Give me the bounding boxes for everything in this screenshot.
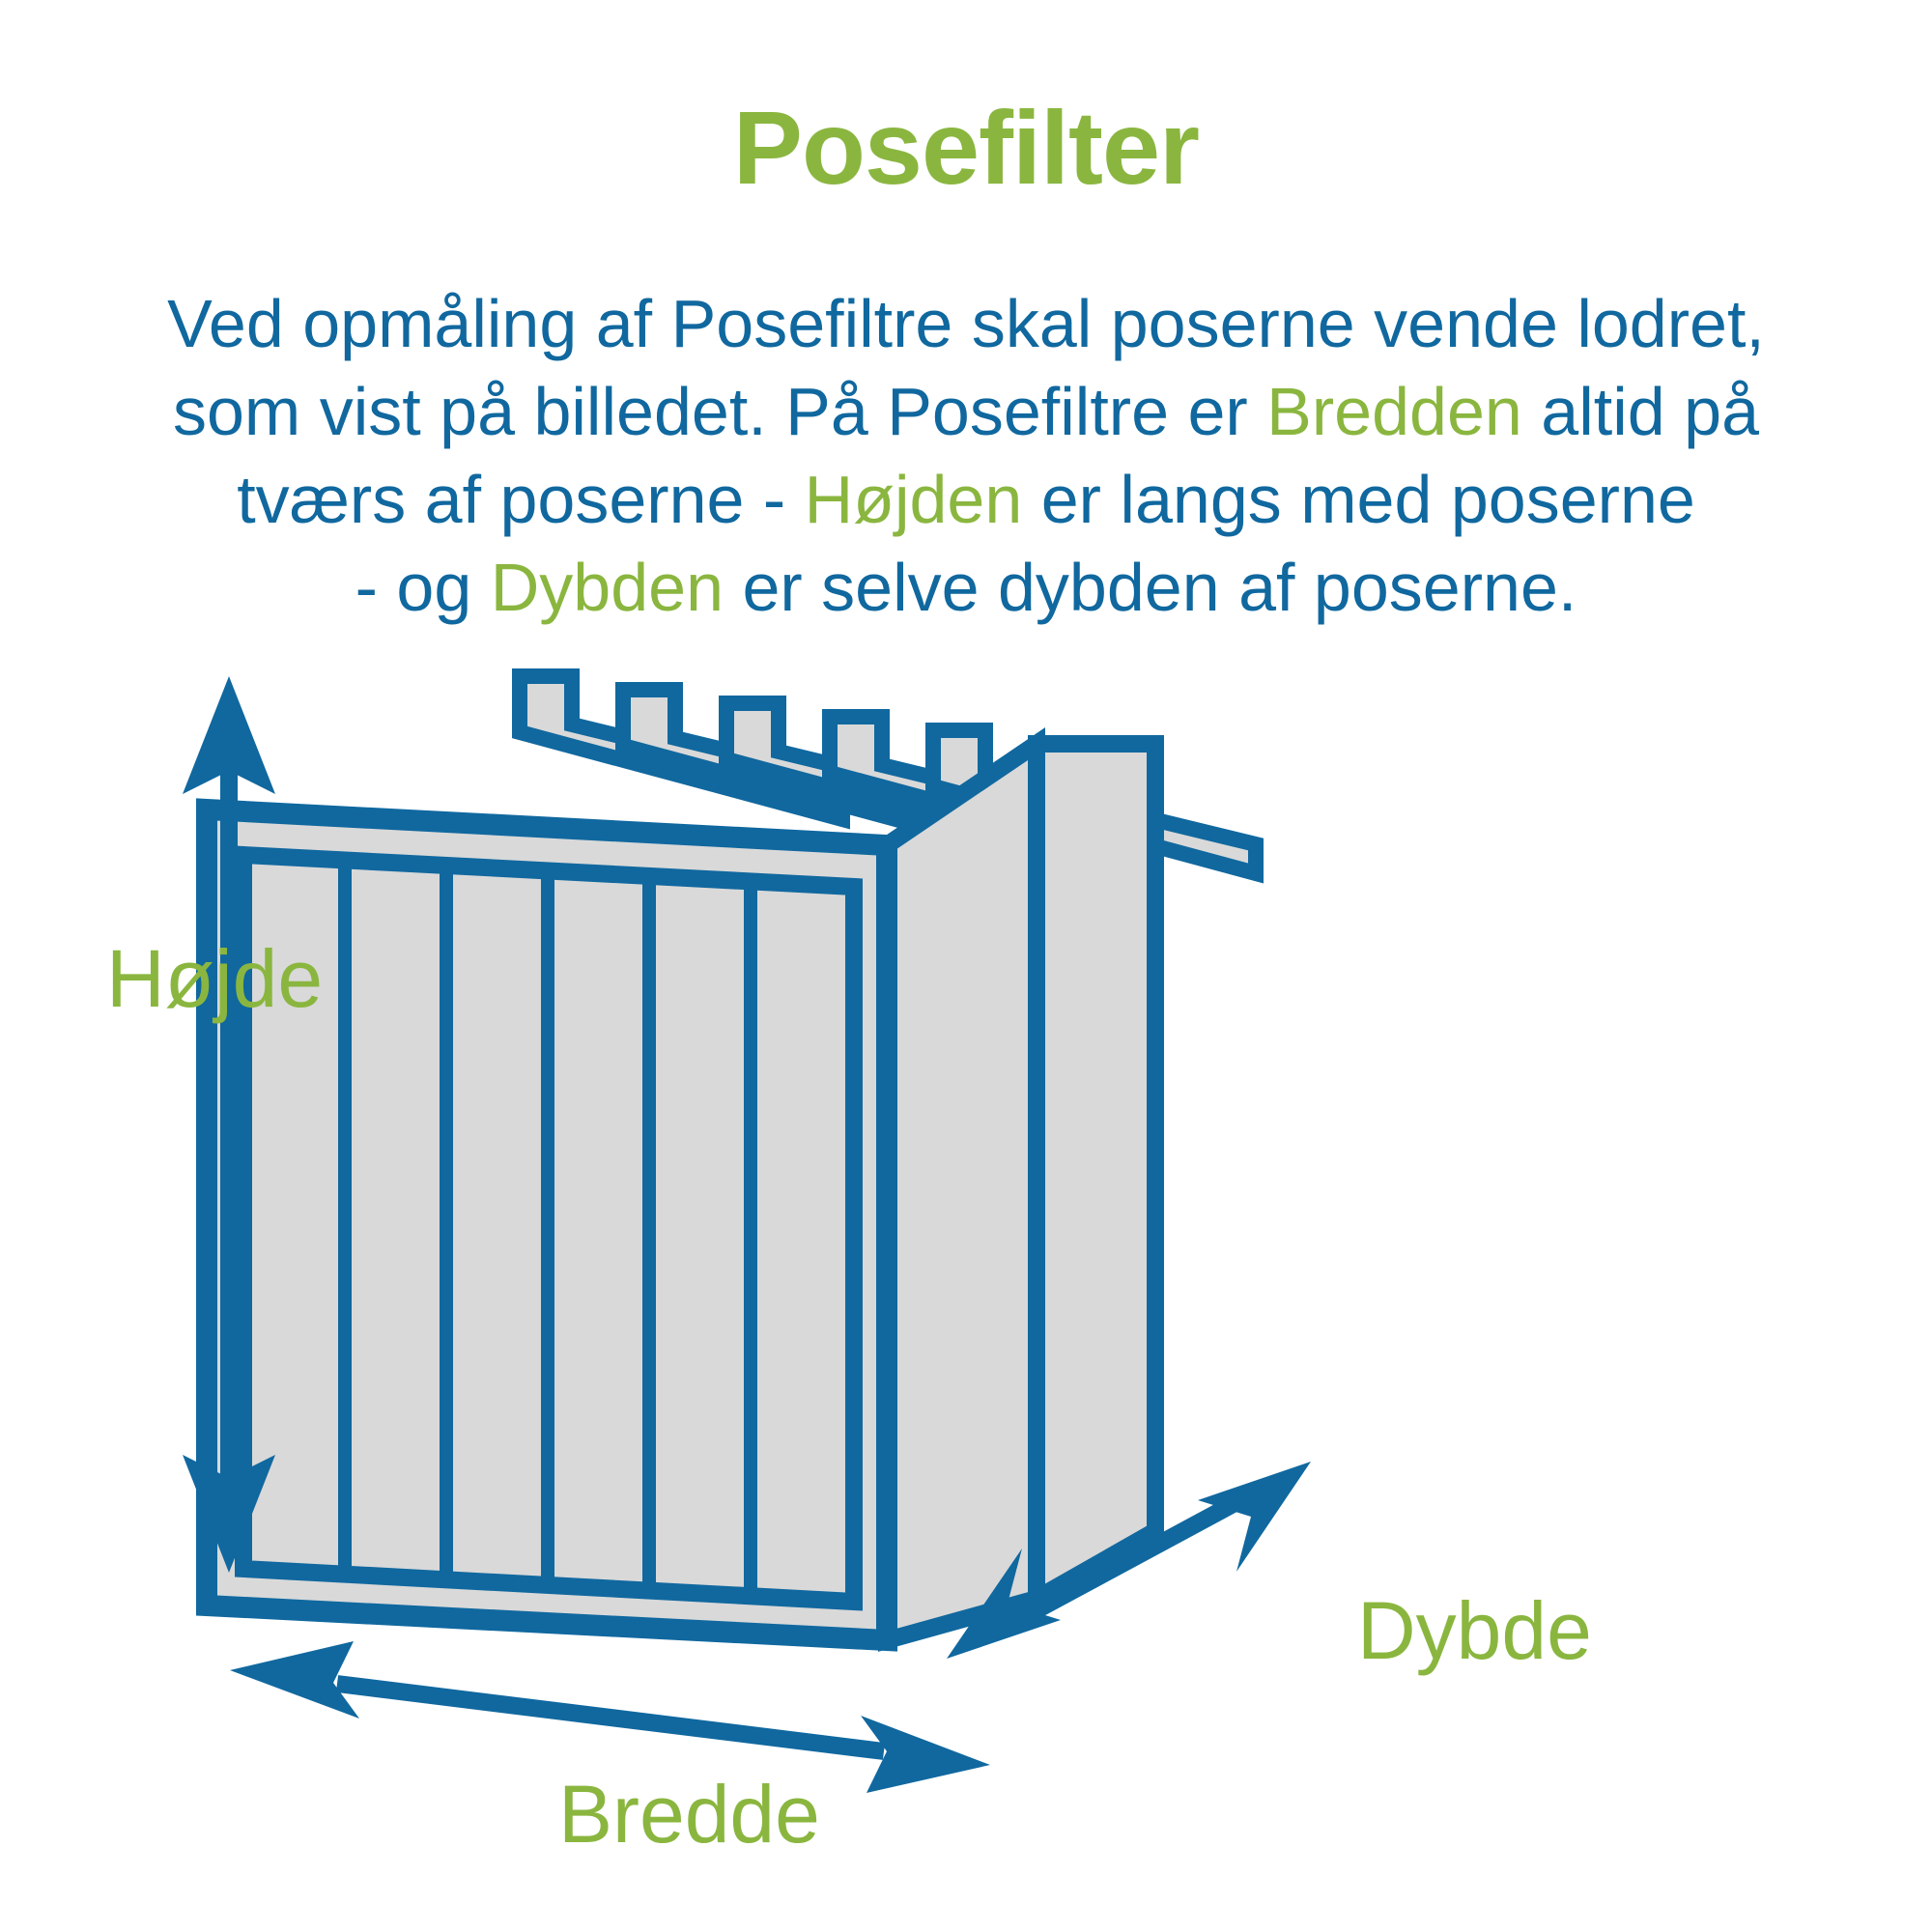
intro-line-3: tværs af poserne - Højden er langs med p… xyxy=(58,456,1874,544)
intro-paragraph: Ved opmåling af Posefiltre skal poserne … xyxy=(58,280,1874,632)
page-title: Posefilter xyxy=(0,93,1932,202)
intro-line-1: Ved opmåling af Posefiltre skal poserne … xyxy=(58,280,1874,368)
poster-root: Posefilter Ved opmåling af Posefiltre sk… xyxy=(0,0,1932,1932)
intro-line-4-part-a: - og xyxy=(355,550,491,625)
label-dybde: Dybde xyxy=(1357,1585,1592,1676)
highlight-bredden: Bredden xyxy=(1266,374,1522,449)
highlight-hojden: Højden xyxy=(805,462,1023,537)
intro-line-2: som vist på billedet. På Posefiltre er B… xyxy=(58,368,1874,456)
filter-diagram: Højde Bredde Dybde xyxy=(0,667,1932,1932)
intro-line-3-part-a: tværs af poserne - xyxy=(237,462,804,537)
intro-line-4: - og Dybden er selve dybden af poserne. xyxy=(58,544,1874,632)
intro-line-4-part-b: er selve dybden af poserne. xyxy=(724,550,1577,625)
intro-line-1-text: Ved opmåling af Posefiltre skal poserne … xyxy=(167,286,1765,361)
label-hojde: Højde xyxy=(106,933,323,1024)
filter-depth-face xyxy=(887,744,1037,1640)
highlight-dybden: Dybden xyxy=(491,550,724,625)
label-bredde: Bredde xyxy=(558,1769,820,1860)
filter-side-panel xyxy=(1037,744,1155,1599)
intro-line-2-part-a: som vist på billedet. På Posefiltre er xyxy=(173,374,1266,449)
intro-line-2-part-b: altid på xyxy=(1522,374,1759,449)
intro-line-3-part-b: er langs med poserne xyxy=(1022,462,1695,537)
